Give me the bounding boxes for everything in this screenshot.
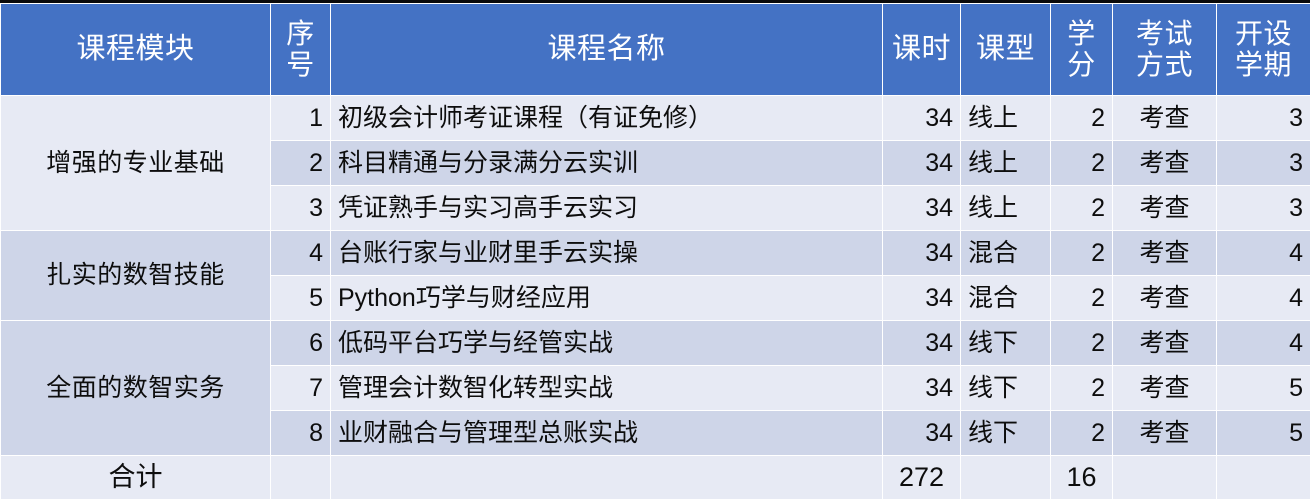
- cell-name: 管理会计数智化转型实战: [331, 366, 883, 411]
- table-header-row: 课程模块 序 号 课程名称 课时 课型 学 分 考试 方式 开设 学期: [1, 4, 1310, 96]
- course-plan-table: 课程模块 序 号 课程名称 课时 课型 学 分 考试 方式 开设 学期 增强的专: [0, 3, 1310, 500]
- cell-type: 线下: [961, 321, 1051, 366]
- cell-type: 线下: [961, 366, 1051, 411]
- cell-credit: 2: [1051, 366, 1113, 411]
- total-hours-value: 272: [883, 456, 961, 500]
- cell-credit: 2: [1051, 96, 1113, 141]
- cell-seq: 1: [271, 96, 331, 141]
- cell-term: 4: [1217, 276, 1310, 321]
- header-seq: 序 号: [271, 4, 331, 96]
- cell-name: Python巧学与财经应用: [331, 276, 883, 321]
- cell-exam: 考查: [1113, 96, 1217, 141]
- cell-name: 业财融合与管理型总账实战: [331, 411, 883, 456]
- cell-type: 线上: [961, 186, 1051, 231]
- table-row: 扎实的数智技能 4 台账行家与业财里手云实操 34 混合 2 考查 4: [1, 231, 1310, 276]
- cell-type: 线下: [961, 411, 1051, 456]
- cell-exam: 考查: [1113, 231, 1217, 276]
- header-seq-line2: 号: [273, 50, 328, 80]
- total-term-empty: [1217, 456, 1310, 500]
- cell-exam: 考查: [1113, 321, 1217, 366]
- course-plan-sheet: 课程模块 序 号 课程名称 课时 课型 学 分 考试 方式 开设 学期 增强的专: [0, 0, 1310, 496]
- header-credit: 学 分: [1051, 4, 1113, 96]
- cell-credit: 2: [1051, 141, 1113, 186]
- cell-credit: 2: [1051, 321, 1113, 366]
- cell-term: 5: [1217, 366, 1310, 411]
- table-total-row: 合计 272 16: [1, 456, 1310, 500]
- cell-term: 3: [1217, 141, 1310, 186]
- module-cell: 增强的专业基础: [1, 96, 271, 231]
- cell-credit: 2: [1051, 276, 1113, 321]
- cell-term: 5: [1217, 411, 1310, 456]
- header-course-type: 课型: [961, 4, 1051, 96]
- cell-type: 线上: [961, 96, 1051, 141]
- cell-hours: 34: [883, 186, 961, 231]
- module-cell: 全面的数智实务: [1, 321, 271, 456]
- cell-exam: 考查: [1113, 411, 1217, 456]
- cell-credit: 2: [1051, 186, 1113, 231]
- header-term-line2: 学期: [1219, 50, 1308, 80]
- table-row: 全面的数智实务 6 低码平台巧学与经管实战 34 线下 2 考查 4: [1, 321, 1310, 366]
- cell-term: 3: [1217, 96, 1310, 141]
- cell-seq: 5: [271, 276, 331, 321]
- cell-seq: 2: [271, 141, 331, 186]
- cell-seq: 4: [271, 231, 331, 276]
- cell-seq: 6: [271, 321, 331, 366]
- cell-hours: 34: [883, 366, 961, 411]
- cell-exam: 考查: [1113, 186, 1217, 231]
- total-exam-empty: [1113, 456, 1217, 500]
- header-seq-line1: 序: [273, 19, 328, 49]
- header-credit-line2: 分: [1053, 50, 1110, 80]
- cell-hours: 34: [883, 141, 961, 186]
- total-label: 合计: [1, 456, 271, 500]
- cell-name: 台账行家与业财里手云实操: [331, 231, 883, 276]
- cell-hours: 34: [883, 231, 961, 276]
- cell-name: 凭证熟手与实习高手云实习: [331, 186, 883, 231]
- cell-exam: 考查: [1113, 141, 1217, 186]
- cell-hours: 34: [883, 321, 961, 366]
- cell-seq: 3: [271, 186, 331, 231]
- cell-name: 低码平台巧学与经管实战: [331, 321, 883, 366]
- total-seq-empty: [271, 456, 331, 500]
- cell-term: 3: [1217, 186, 1310, 231]
- module-cell: 扎实的数智技能: [1, 231, 271, 321]
- cell-hours: 34: [883, 411, 961, 456]
- cell-type: 线上: [961, 141, 1051, 186]
- cell-hours: 34: [883, 96, 961, 141]
- table-row: 增强的专业基础 1 初级会计师考证课程（有证免修） 34 线上 2 考查 3: [1, 96, 1310, 141]
- cell-type: 混合: [961, 276, 1051, 321]
- header-term-line1: 开设: [1219, 19, 1308, 49]
- cell-exam: 考查: [1113, 366, 1217, 411]
- header-credit-line1: 学: [1053, 19, 1110, 49]
- total-credit-value: 16: [1051, 456, 1113, 500]
- cell-term: 4: [1217, 321, 1310, 366]
- total-type-empty: [961, 456, 1051, 500]
- cell-credit: 2: [1051, 231, 1113, 276]
- header-term: 开设 学期: [1217, 4, 1310, 96]
- total-name-empty: [331, 456, 883, 500]
- header-exam-method: 考试 方式: [1113, 4, 1217, 96]
- cell-name: 初级会计师考证课程（有证免修）: [331, 96, 883, 141]
- cell-credit: 2: [1051, 411, 1113, 456]
- cell-name: 科目精通与分录满分云实训: [331, 141, 883, 186]
- header-exam-line2: 方式: [1115, 50, 1214, 80]
- cell-seq: 7: [271, 366, 331, 411]
- header-course-name: 课程名称: [331, 4, 883, 96]
- header-hours: 课时: [883, 4, 961, 96]
- cell-exam: 考查: [1113, 276, 1217, 321]
- cell-seq: 8: [271, 411, 331, 456]
- header-module: 课程模块: [1, 4, 271, 96]
- cell-term: 4: [1217, 231, 1310, 276]
- header-exam-line1: 考试: [1115, 19, 1214, 49]
- cell-type: 混合: [961, 231, 1051, 276]
- cell-hours: 34: [883, 276, 961, 321]
